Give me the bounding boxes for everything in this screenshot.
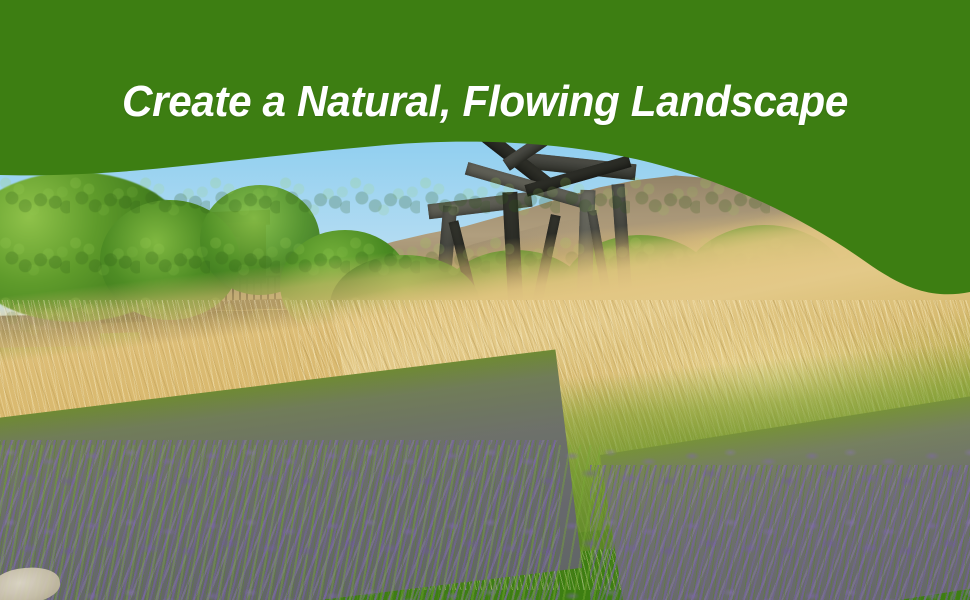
page-title: Create a Natural, Flowing Landscape — [19, 75, 950, 129]
landscape-banner: Create a Natural, Flowing Landscape — [0, 0, 970, 600]
